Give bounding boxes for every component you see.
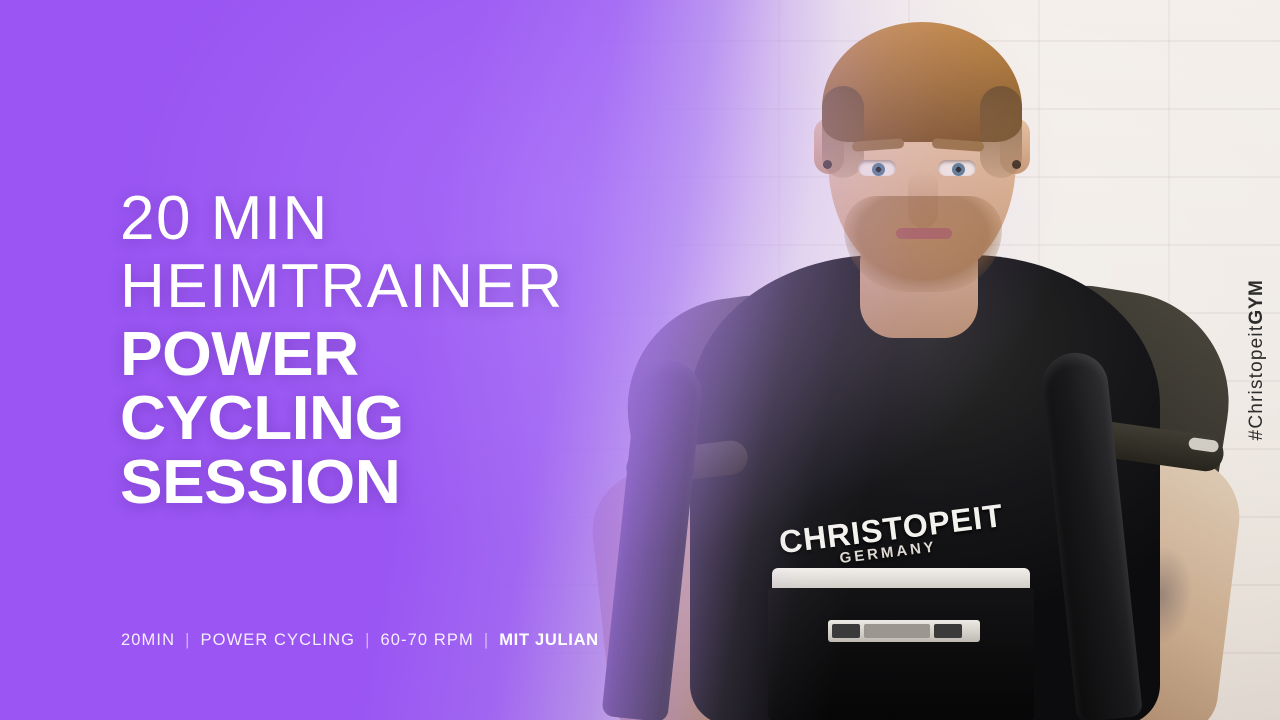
workout-meta-caption: 20MIN | POWER CYCLING | 60-70 RPM | MIT … bbox=[121, 631, 599, 650]
caption-separator: | bbox=[185, 631, 190, 650]
brand-hashtag: #ChristopeitGYM bbox=[1246, 280, 1268, 441]
title-line-equipment: HEIMTRAINER bbox=[120, 256, 820, 318]
caption-discipline: POWER CYCLING bbox=[201, 631, 356, 650]
title-line-session: SESSION bbox=[120, 452, 841, 514]
title-line-power: POWER bbox=[120, 324, 841, 386]
caption-separator: | bbox=[484, 631, 489, 650]
hashtag-suffix: GYM bbox=[1246, 280, 1267, 325]
video-thumbnail: CHRISTOPEIT GERMANY 20 MIN HEIMTRAINER P… bbox=[0, 0, 1280, 720]
caption-host: MIT JULIAN bbox=[499, 631, 599, 650]
caption-duration: 20MIN bbox=[121, 631, 175, 650]
title-line-cycling: CYCLING bbox=[120, 388, 841, 450]
title-block: 20 MIN HEIMTRAINER POWER CYCLING SESSION bbox=[120, 188, 820, 516]
hashtag-prefix: #Christopeit bbox=[1246, 325, 1267, 441]
caption-separator: | bbox=[365, 631, 370, 650]
title-line-duration: 20 MIN bbox=[120, 188, 820, 250]
caption-cadence: 60-70 RPM bbox=[380, 631, 473, 650]
